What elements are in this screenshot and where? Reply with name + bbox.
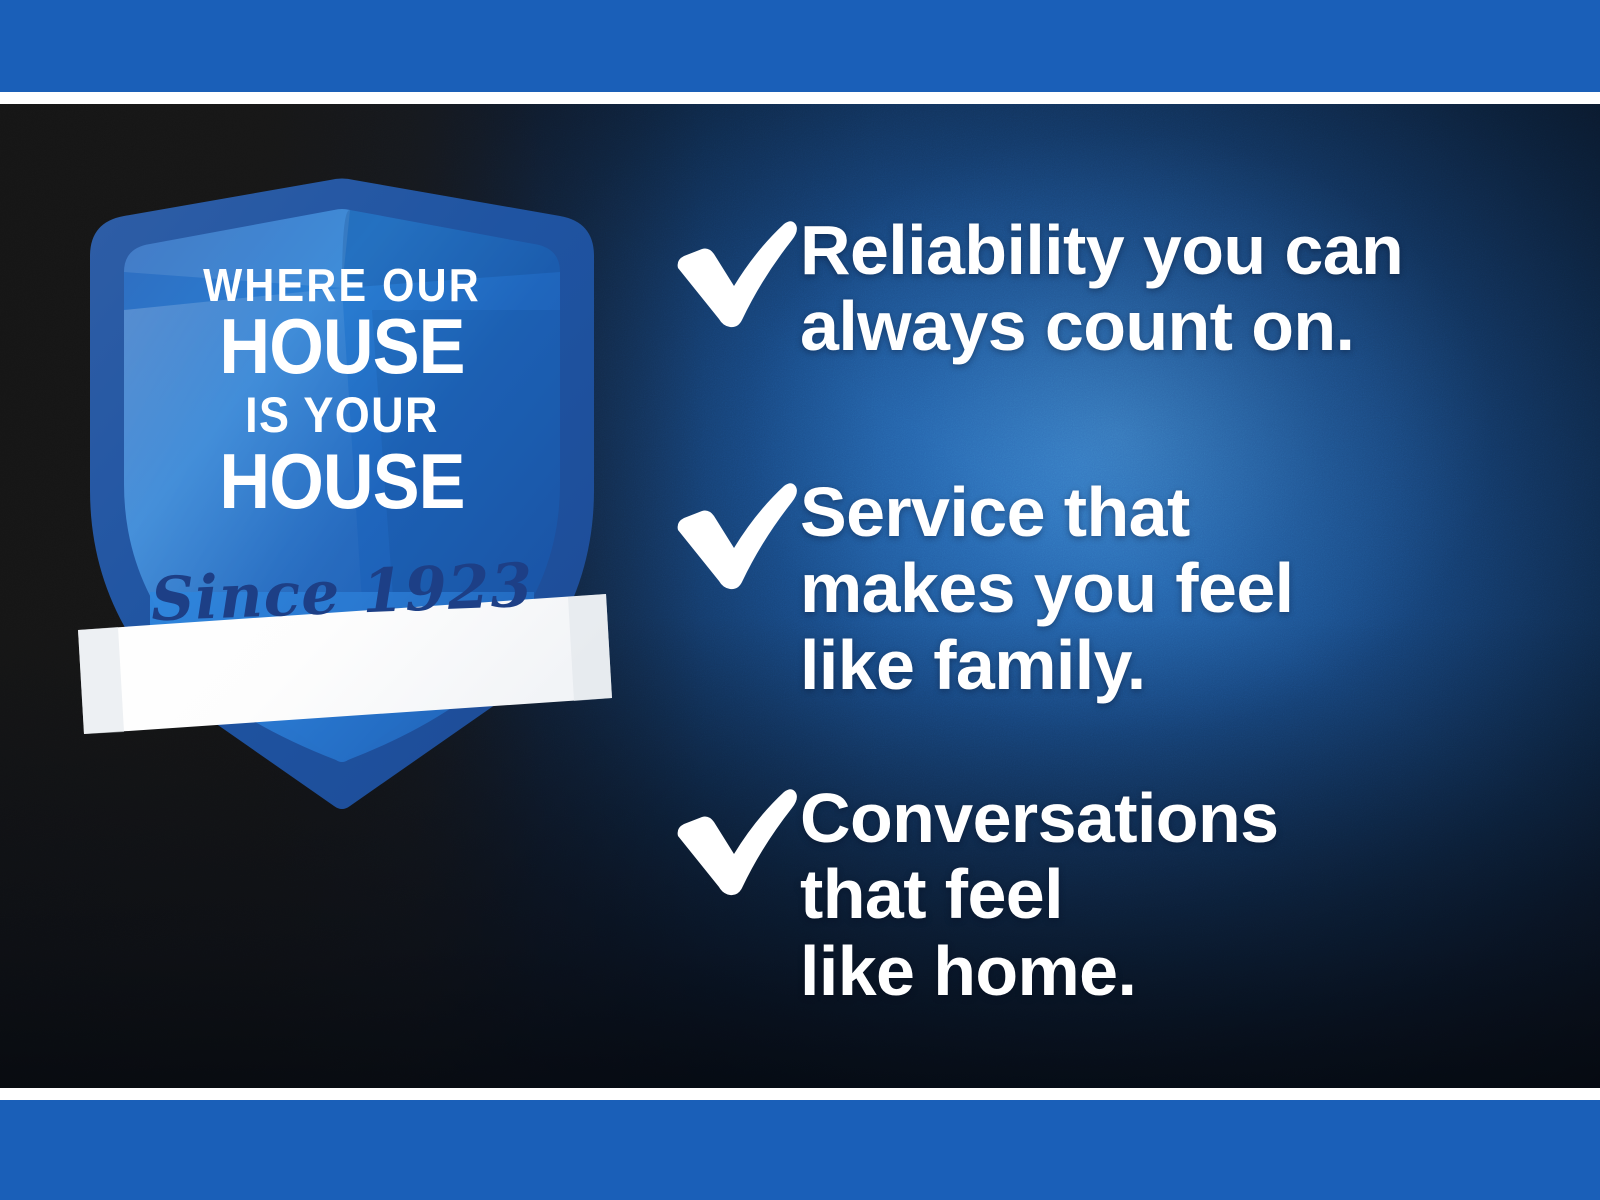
benefit-3-line-2: that feel [800,856,1540,932]
benefit-3-line-1: Conversations [800,780,1540,856]
benefit-item-3: Conversations that feel like home. [660,780,1540,1009]
benefit-text-1: Reliability you can always count on. [800,212,1540,365]
benefit-1-line-1: Reliability you can [800,212,1540,288]
benefit-item-2: Service that makes you feel like family. [660,474,1540,703]
benefit-text-2: Service that makes you feel like family. [800,474,1540,703]
company-shield-badge: WHERE OUR HOUSE IS YOUR HOUSE Since 1923 [72,160,612,820]
benefit-2-line-2: makes you feel [800,550,1540,626]
benefit-item-1: Reliability you can always count on. [660,212,1540,365]
top-brand-bar [0,0,1600,92]
benefit-2-line-3: like family. [800,627,1540,703]
top-separator-line [0,92,1600,104]
benefit-text-3: Conversations that feel like home. [800,780,1540,1009]
check-icon [660,212,800,332]
check-icon [660,780,800,900]
shield-graphic [72,160,612,820]
bottom-separator-line [0,1088,1600,1100]
bottom-brand-bar [0,1100,1600,1200]
benefit-2-line-1: Service that [800,474,1540,550]
promo-graphic: WHERE OUR HOUSE IS YOUR HOUSE Since 1923… [0,0,1600,1200]
benefits-list: Reliability you can always count on. Ser… [660,104,1540,1088]
ribbon-fold-left [78,627,124,734]
check-icon [660,474,800,594]
benefit-3-line-3: like home. [800,933,1540,1009]
benefit-1-line-2: always count on. [800,288,1540,364]
